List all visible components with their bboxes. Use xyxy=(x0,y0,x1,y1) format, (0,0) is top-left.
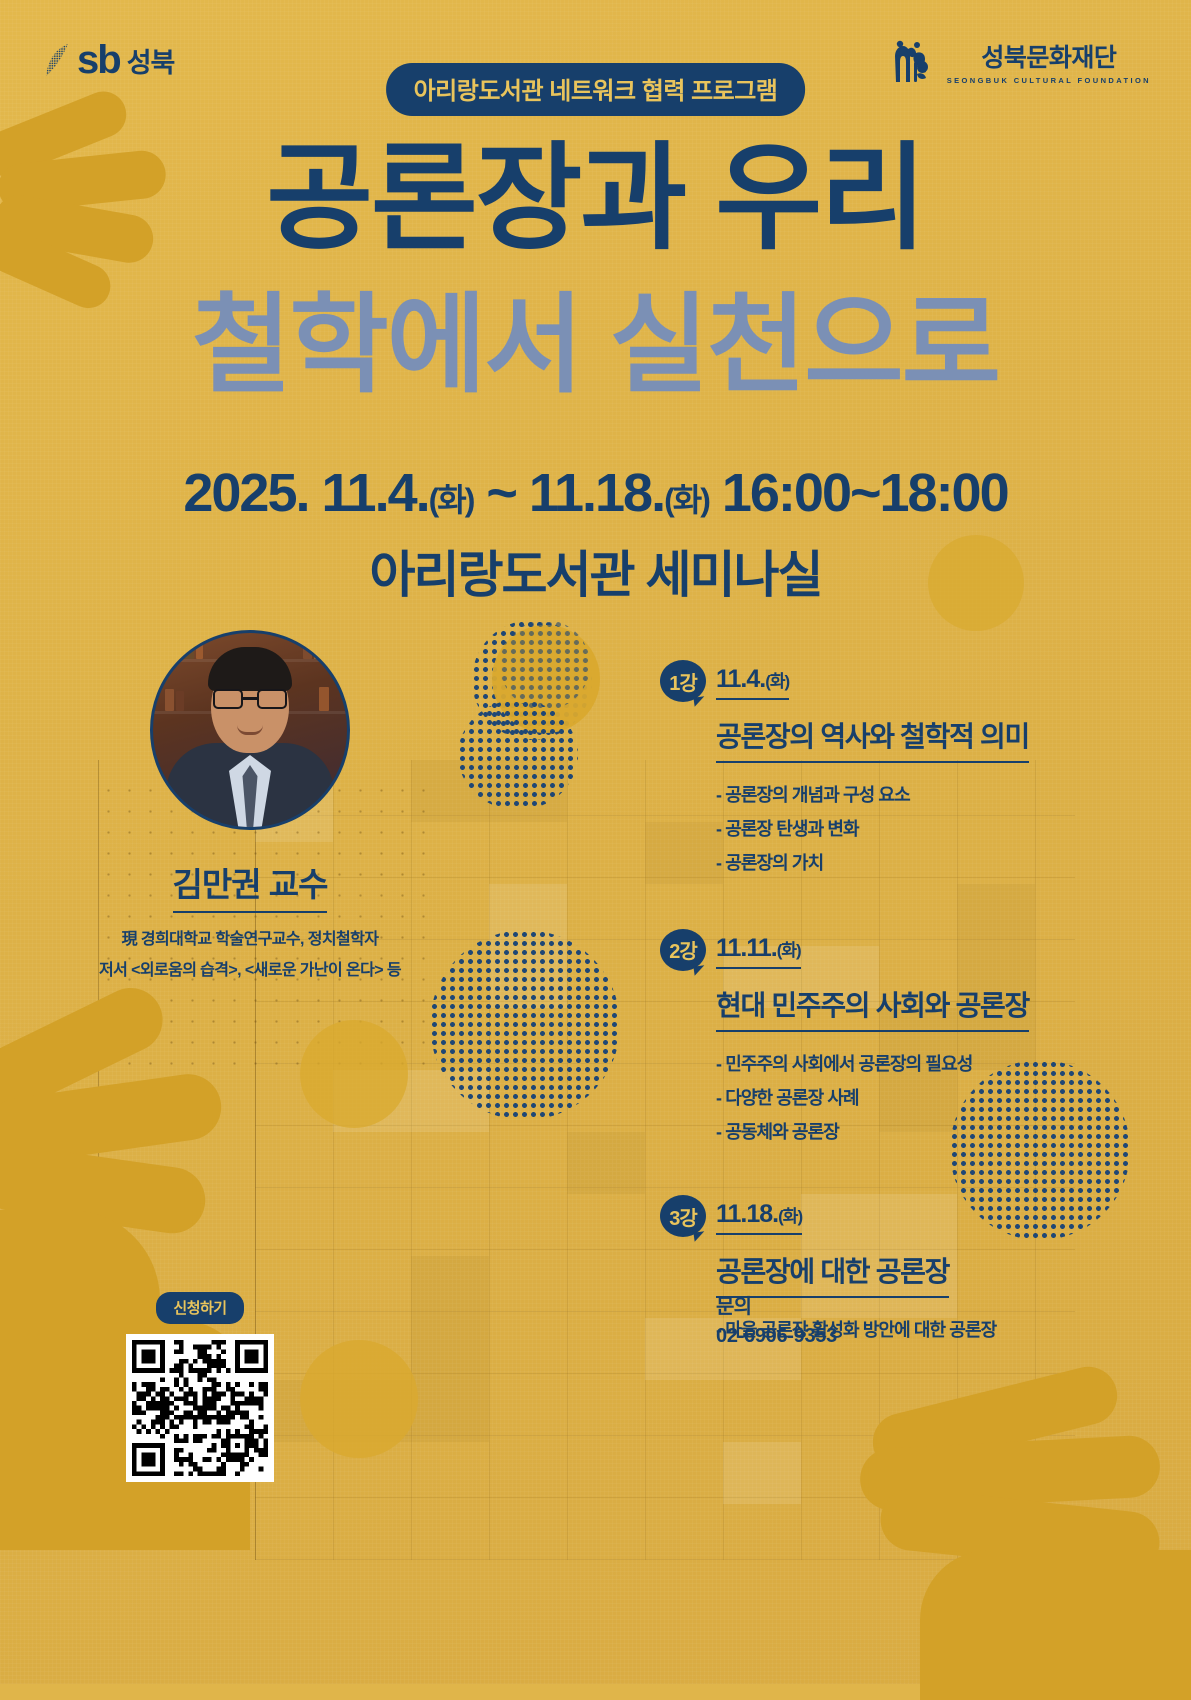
speaker-bio-line-1: 現 경희대학교 학술연구교수, 정치철학자 xyxy=(60,925,440,949)
qr-code-canvas[interactable] xyxy=(132,1340,268,1476)
session-bullet: - 공동체와 공론장 xyxy=(716,1115,1130,1149)
contact-label: 문의 xyxy=(716,1290,837,1319)
session-header: 2강 11.11.(화) xyxy=(660,929,1130,971)
halftone-bubble xyxy=(458,700,578,810)
date-start-dow: (화) xyxy=(429,482,474,518)
speaker-name: 김만권 교수 xyxy=(173,858,328,913)
session-header: 3강 11.18.(화) xyxy=(660,1195,1130,1237)
event-time: 16:00~18:00 xyxy=(709,463,1008,523)
session-date: 11.18.(화) xyxy=(716,1200,802,1235)
session-bullet: - 공론장 탄생과 변화 xyxy=(716,812,1130,846)
session-date-dow: (화) xyxy=(777,941,801,960)
speaker-portrait xyxy=(150,630,350,830)
speech-bubble-solid xyxy=(492,625,600,733)
session-date-value: 11.18. xyxy=(716,1200,778,1228)
event-venue: 아리랑도서관 세미나실 xyxy=(0,535,1191,607)
sb-wordmark: sb xyxy=(77,40,120,80)
session-list: 1강 11.4.(화) 공론장의 역사와 철학적 의미 - 공론장의 개념과 구… xyxy=(660,660,1130,1381)
glasses-icon xyxy=(213,689,287,709)
event-date-line: 2025. 11.4.(화) ~ 11.18.(화) 16:00~18:00 xyxy=(0,462,1191,524)
apply-button[interactable]: 신청하기 xyxy=(156,1292,243,1324)
halftone-bubble xyxy=(472,620,592,740)
sb-logo-icon xyxy=(44,43,70,77)
halftone-bubble-large xyxy=(430,930,620,1120)
speaker-block: 김만권 교수 現 경희대학교 학술연구교수, 정치철학자 저서 <외로움의 습격… xyxy=(60,630,440,980)
poster-canvas: sb 성북 성북문화재단 SEONGBUK CULTURAL xyxy=(0,0,1191,1684)
session-badge: 1강 xyxy=(660,660,706,702)
qr-code[interactable] xyxy=(126,1334,274,1482)
session-item-1: 1강 11.4.(화) 공론장의 역사와 철학적 의미 - 공론장의 개념과 구… xyxy=(660,660,1130,881)
date-start: 2025. 11.4. xyxy=(183,463,428,523)
session-bullet: - 민주주의 사회에서 공론장의 필요성 xyxy=(716,1047,1130,1081)
contact-phone[interactable]: 02-6906-9353 xyxy=(716,1325,837,1348)
session-bullet: - 공론장의 개념과 구성 요소 xyxy=(716,778,1130,812)
speech-bubble-solid xyxy=(300,1020,408,1128)
date-end-dow: (화) xyxy=(664,482,709,518)
session-badge: 2강 xyxy=(660,929,706,971)
hand-graphic-bottom-right xyxy=(860,1380,1191,1680)
tree-emblem-icon xyxy=(887,40,935,84)
program-badge: 아리랑도서관 네트워크 협력 프로그램 xyxy=(386,63,806,116)
poster-title-line1: 공론장과 우리 xyxy=(0,138,1191,260)
session-date-dow: (화) xyxy=(765,672,789,691)
session-bullets: - 민주주의 사회에서 공론장의 필요성 - 다양한 공론장 사례 - 공동체와… xyxy=(716,1047,1130,1150)
foundation-logo: 성북문화재단 SEONGBUK CULTURAL FOUNDATION xyxy=(887,38,1151,85)
speech-bubble-solid xyxy=(300,1340,418,1458)
session-date-value: 11.11. xyxy=(716,934,777,962)
session-badge: 3강 xyxy=(660,1195,706,1237)
session-bullet: - 공론장의 가치 xyxy=(716,846,1130,880)
session-bullets: - 공론장의 개념과 구성 요소 - 공론장 탄생과 변화 - 공론장의 가치 xyxy=(716,778,1130,881)
session-date: 11.4.(화) xyxy=(716,665,789,700)
speaker-bio-line-2: 저서 <외로움의 습격>, <새로운 가난이 온다> 등 xyxy=(60,956,440,980)
session-title: 현대 민주주의 사회와 공론장 xyxy=(716,984,1029,1032)
halftone-bubble xyxy=(500,620,590,710)
session-date: 11.11.(화) xyxy=(716,934,801,969)
date-range-sep: ~ 11.18. xyxy=(473,463,664,523)
apply-block: 신청하기 xyxy=(110,1292,290,1482)
foundation-english-name: SEONGBUK CULTURAL FOUNDATION xyxy=(947,76,1151,85)
contact-block: 문의 02-6906-9353 xyxy=(716,1290,837,1348)
session-item-2: 2강 11.11.(화) 현대 민주주의 사회와 공론장 - 민주주의 사회에서… xyxy=(660,929,1130,1150)
seongbuk-logo: sb 성북 xyxy=(44,40,174,80)
session-header: 1강 11.4.(화) xyxy=(660,660,1130,702)
session-date-value: 11.4. xyxy=(716,665,765,693)
session-date-dow: (화) xyxy=(778,1207,802,1226)
session-bullet: - 다양한 공론장 사례 xyxy=(716,1081,1130,1115)
poster-title-line2: 철학에서 실천으로 xyxy=(0,288,1191,401)
foundation-korean-name: 성북문화재단 xyxy=(981,38,1116,74)
sb-korean-label: 성북 xyxy=(127,41,175,80)
session-title: 공론장의 역사와 철학적 의미 xyxy=(716,715,1029,763)
